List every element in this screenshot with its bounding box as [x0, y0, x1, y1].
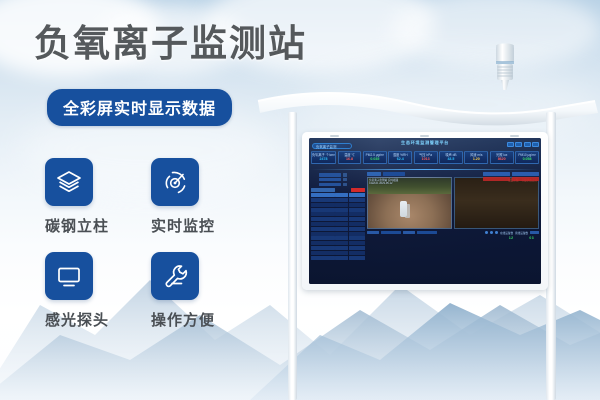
kpi-card[interactable]: 噪声 dB43.5 — [439, 151, 463, 164]
table-cell — [349, 256, 365, 260]
layers-icon — [55, 168, 83, 196]
table-row[interactable] — [311, 232, 365, 236]
summary-item — [319, 173, 365, 177]
table-cell — [349, 222, 365, 226]
table-cell — [349, 236, 365, 240]
feature-label: 碳钢立柱 — [45, 215, 145, 236]
table-header-row — [311, 193, 365, 197]
wrench-icon-tile — [151, 252, 199, 300]
monitor-icon-tile — [45, 252, 93, 300]
kpi-value: 1.20 — [465, 157, 487, 162]
dashboard-logo-label: 负氧离子监测 — [313, 144, 351, 150]
kpi-card[interactable]: 湿度 %RH62.4 — [388, 151, 412, 164]
kpi-value: 0.058 — [516, 157, 538, 162]
status-left-value: 12 — [509, 236, 514, 240]
feature-label: 感光探头 — [45, 309, 145, 330]
frame-bolt — [510, 135, 519, 137]
table-row[interactable] — [311, 236, 365, 240]
banner-stage: 负氧离子监测站 全彩屏实时显示数据 碳钢立柱 — [0, 0, 600, 400]
table-row[interactable] — [311, 217, 365, 221]
led-display-frame: 生态环境监测管理平台 负氧离子监测 负氧离子 个/cm³2478温度 ℃16.8… — [302, 132, 548, 290]
summary-item — [319, 183, 365, 187]
feature-list: 碳钢立柱 实时监控 — [45, 158, 251, 330]
summary-value — [343, 173, 347, 177]
kpi-card[interactable]: PM2.5 μg/m³0.035 — [363, 151, 387, 164]
table-row[interactable] — [311, 256, 365, 260]
table-cell — [311, 203, 335, 207]
alert-row[interactable] — [483, 177, 539, 181]
kpi-value: 2478 — [312, 157, 335, 162]
summary-key — [319, 183, 341, 187]
video-channel-select[interactable] — [383, 172, 405, 176]
toolbar-button[interactable] — [524, 142, 531, 147]
kpi-value: 1013 — [415, 157, 437, 162]
table-cell — [349, 208, 365, 212]
summary-item — [319, 178, 365, 182]
monitoring-station: 生态环境监测管理平台 负氧离子监测 负氧离子 个/cm³2478温度 ℃16.8… — [250, 40, 600, 400]
table-cell — [311, 227, 335, 231]
alert-tab[interactable] — [512, 172, 539, 176]
table-cell — [349, 203, 365, 207]
frame-bolt — [420, 135, 429, 137]
video-feed-b[interactable]: 报警录像 存储状态正常 — [454, 177, 539, 229]
kpi-row: 负氧离子 个/cm³2478温度 ℃16.8PM2.5 μg/m³0.035湿度… — [311, 151, 539, 164]
table-cell — [349, 246, 365, 250]
frame-bolt — [330, 135, 339, 137]
feature-label: 操作方便 — [151, 309, 251, 330]
status-right-value: 03 — [529, 236, 534, 240]
table-title — [311, 188, 335, 191]
feature-label: 实时监控 — [151, 215, 251, 236]
table-header-cell — [311, 193, 335, 197]
dashboard-left-panel — [311, 172, 365, 282]
table-cell — [311, 236, 335, 240]
table-cell — [335, 198, 348, 202]
kpi-card[interactable]: 风速 m/s1.20 — [464, 151, 488, 164]
feature-item-easy-operation[interactable]: 操作方便 — [151, 252, 251, 330]
summary-key — [319, 178, 341, 182]
summary-value — [343, 178, 347, 182]
toolbar-button[interactable] — [532, 142, 539, 147]
table-cell — [349, 198, 365, 202]
footer-dot[interactable] — [490, 231, 493, 234]
kpi-card[interactable]: 气压 hPa1013 — [414, 151, 438, 164]
table-cell — [335, 217, 348, 221]
alert-panel-header[interactable] — [483, 172, 539, 176]
table-row[interactable] — [311, 241, 365, 245]
table-cell — [335, 203, 348, 207]
video-osd-line2: CAM-01 2023-05-12 — [369, 182, 398, 185]
video-grid: 负氧离子监测站 实时视频 CAM-01 2023-05-12 报警录像 存储状态… — [367, 177, 539, 229]
kpi-card[interactable]: 温度 ℃16.8 — [338, 151, 362, 164]
table-header-bar — [311, 188, 365, 192]
radar-icon — [161, 168, 189, 196]
table-cell — [311, 246, 335, 250]
kpi-value: 8620 — [491, 157, 513, 162]
wrench-icon — [161, 262, 189, 290]
table-cell — [349, 217, 365, 221]
table-row[interactable] — [311, 203, 365, 207]
table-cell — [311, 256, 335, 260]
table-cell — [349, 251, 365, 255]
kpi-card[interactable]: 光照 lux8620 — [490, 151, 514, 164]
table-header-cell — [349, 193, 365, 197]
footer-dot[interactable] — [495, 231, 498, 234]
video-toolbar-button[interactable] — [367, 172, 381, 176]
table-cell — [311, 217, 335, 221]
table-cell — [349, 212, 365, 216]
table-row[interactable] — [311, 208, 365, 212]
video-subject — [400, 201, 407, 217]
table-cell — [335, 227, 348, 231]
video-panel: 负氧离子监测站 实时视频 CAM-01 2023-05-12 报警录像 存储状态… — [367, 172, 539, 282]
kpi-value: 62.4 — [389, 157, 411, 162]
table-cell — [335, 246, 348, 250]
footer-dot[interactable] — [485, 231, 488, 234]
dashboard-screen[interactable]: 生态环境监测管理平台 负氧离子监测 负氧离子 个/cm³2478温度 ℃16.8… — [309, 138, 541, 284]
status-left-label: 在线设备数 — [500, 231, 513, 235]
video-footer[interactable]: 在线设备数 离线设备数 — [367, 231, 539, 235]
dashboard-logo: 负氧离子监测 — [312, 143, 352, 149]
table-row[interactable] — [311, 212, 365, 216]
table-cell — [335, 236, 348, 240]
table-row[interactable] — [311, 246, 365, 250]
table-row[interactable] — [311, 251, 365, 255]
video-osd: 负氧离子监测站 实时视频 CAM-01 2023-05-12 — [369, 179, 398, 186]
table-cell — [335, 256, 348, 260]
table-cell — [311, 222, 335, 226]
table-cell — [335, 212, 348, 216]
feature-item-realtime-monitoring[interactable]: 实时监控 — [151, 158, 251, 236]
alert-panel — [483, 172, 539, 181]
subtitle-badge: 全彩屏实时显示数据 — [47, 89, 232, 126]
data-table[interactable] — [311, 193, 365, 260]
dashboard-toolbar[interactable] — [507, 142, 540, 147]
table-cell — [335, 232, 348, 236]
video-feed-a[interactable]: 负氧离子监测站 实时视频 CAM-01 2023-05-12 — [367, 177, 452, 229]
alert-item[interactable] — [483, 177, 510, 181]
footer-button[interactable] — [367, 231, 379, 235]
table-cell — [311, 212, 335, 216]
footer-button[interactable] — [530, 231, 539, 235]
summary-value — [343, 183, 347, 187]
feature-item-steel-column[interactable]: 碳钢立柱 — [45, 158, 145, 236]
alert-badge[interactable] — [351, 188, 365, 192]
monitor-icon — [55, 262, 83, 290]
kpi-card[interactable]: 负氧离子 个/cm³2478 — [311, 151, 336, 164]
table-row[interactable] — [311, 227, 365, 231]
table-cell — [335, 222, 348, 226]
kpi-value: 16.8 — [339, 157, 361, 162]
table-cell — [311, 208, 335, 212]
table-header-cell — [335, 193, 348, 197]
radar-icon-tile — [151, 158, 199, 206]
table-cell — [311, 251, 335, 255]
layers-icon-tile — [45, 158, 93, 206]
post-left — [288, 112, 297, 400]
table-cell — [335, 251, 348, 255]
status-right-label: 离线设备数 — [515, 231, 528, 235]
summary-key — [319, 173, 341, 177]
kpi-card[interactable]: PM10 μg/m³0.058 — [515, 151, 539, 164]
divider — [311, 169, 539, 170]
table-cell — [335, 208, 348, 212]
toolbar-button[interactable] — [515, 142, 522, 147]
table-row[interactable] — [311, 222, 365, 226]
feature-item-light-sensor[interactable]: 感光探头 — [45, 252, 145, 330]
table-cell — [311, 241, 335, 245]
footer-button[interactable] — [403, 231, 415, 235]
kpi-value: 0.035 — [364, 157, 386, 162]
alert-item[interactable] — [512, 177, 539, 181]
kpi-value: 43.5 — [440, 157, 462, 162]
summary-list — [319, 173, 365, 186]
table-cell — [349, 241, 365, 245]
table-cell — [311, 232, 335, 236]
table-cell — [335, 241, 348, 245]
table-cell — [349, 227, 365, 231]
table-cell — [349, 232, 365, 236]
footer-select-a[interactable] — [381, 231, 401, 235]
table-cell — [311, 198, 335, 202]
table-row[interactable] — [311, 198, 365, 202]
alert-tab[interactable] — [483, 172, 510, 176]
toolbar-button[interactable] — [507, 142, 514, 147]
footer-select-b[interactable] — [417, 231, 437, 235]
